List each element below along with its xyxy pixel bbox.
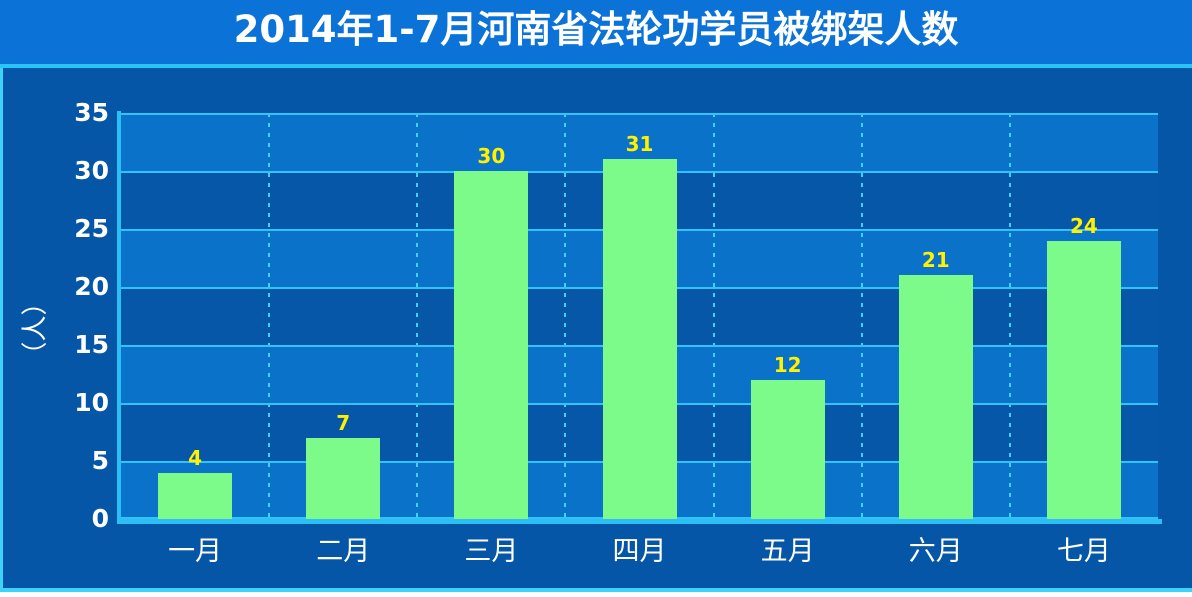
- page-title: 2014年1-7月河南省法轮功学员被绑架人数: [0, 0, 1192, 64]
- bar-二月[interactable]: [306, 438, 380, 519]
- bar-value-label: 24: [1039, 214, 1129, 238]
- y-tick-label: 0: [47, 506, 109, 531]
- x-axis-line: [117, 519, 1162, 524]
- x-tick-label: 六月: [866, 529, 1006, 568]
- vertical-gridline: [713, 113, 715, 519]
- y-tick-label: 25: [47, 216, 109, 241]
- frame-bottom-outer: [0, 592, 1192, 597]
- bar-value-label: 21: [891, 248, 981, 272]
- y-tick-label: 5: [47, 448, 109, 473]
- vertical-gridline: [564, 113, 566, 519]
- y-tick-label: 35: [47, 100, 109, 125]
- y-tick-label: 20: [47, 274, 109, 299]
- x-tick-label: 三月: [421, 529, 561, 568]
- x-tick-label: 二月: [273, 529, 413, 568]
- y-tick-label: 30: [47, 158, 109, 183]
- bar-value-label: 12: [743, 353, 833, 377]
- frame-left-border: [0, 68, 3, 597]
- y-tick-label: 10: [47, 390, 109, 415]
- x-tick-label: 五月: [718, 529, 858, 568]
- horizontal-gridline: [121, 113, 1158, 115]
- y-tick-label: 15: [47, 332, 109, 357]
- vertical-gridline: [268, 113, 270, 519]
- plot-area: [121, 113, 1158, 519]
- y-axis-title: （人）: [12, 270, 52, 380]
- bar-value-label: 4: [150, 446, 240, 470]
- x-tick-label: 七月: [1014, 529, 1154, 568]
- bar-六月[interactable]: [899, 275, 973, 519]
- bar-value-label: 7: [298, 411, 388, 435]
- y-axis-title-text: （人）: [15, 284, 52, 374]
- chart-title-band: 2014年1-7月河南省法轮功学员被绑架人数: [0, 0, 1192, 64]
- vertical-gridline: [1009, 113, 1011, 519]
- bar-七月[interactable]: [1047, 241, 1121, 519]
- bar-value-label: 30: [446, 144, 536, 168]
- x-tick-label: 四月: [570, 529, 710, 568]
- chart-container: 2014年1-7月河南省法轮功学员被绑架人数 35302520151050 （人…: [0, 0, 1192, 597]
- vertical-gridline: [416, 113, 418, 519]
- bar-五月[interactable]: [751, 380, 825, 519]
- bar-一月[interactable]: [158, 473, 232, 519]
- bar-四月[interactable]: [603, 159, 677, 519]
- bar-三月[interactable]: [454, 171, 528, 519]
- x-tick-label: 一月: [125, 529, 265, 568]
- vertical-gridline: [861, 113, 863, 519]
- y-axis-tick-labels: 35302520151050: [47, 0, 109, 597]
- y-axis-line: [117, 111, 121, 523]
- bar-value-label: 31: [595, 132, 685, 156]
- frame-right-border: [1188, 68, 1192, 597]
